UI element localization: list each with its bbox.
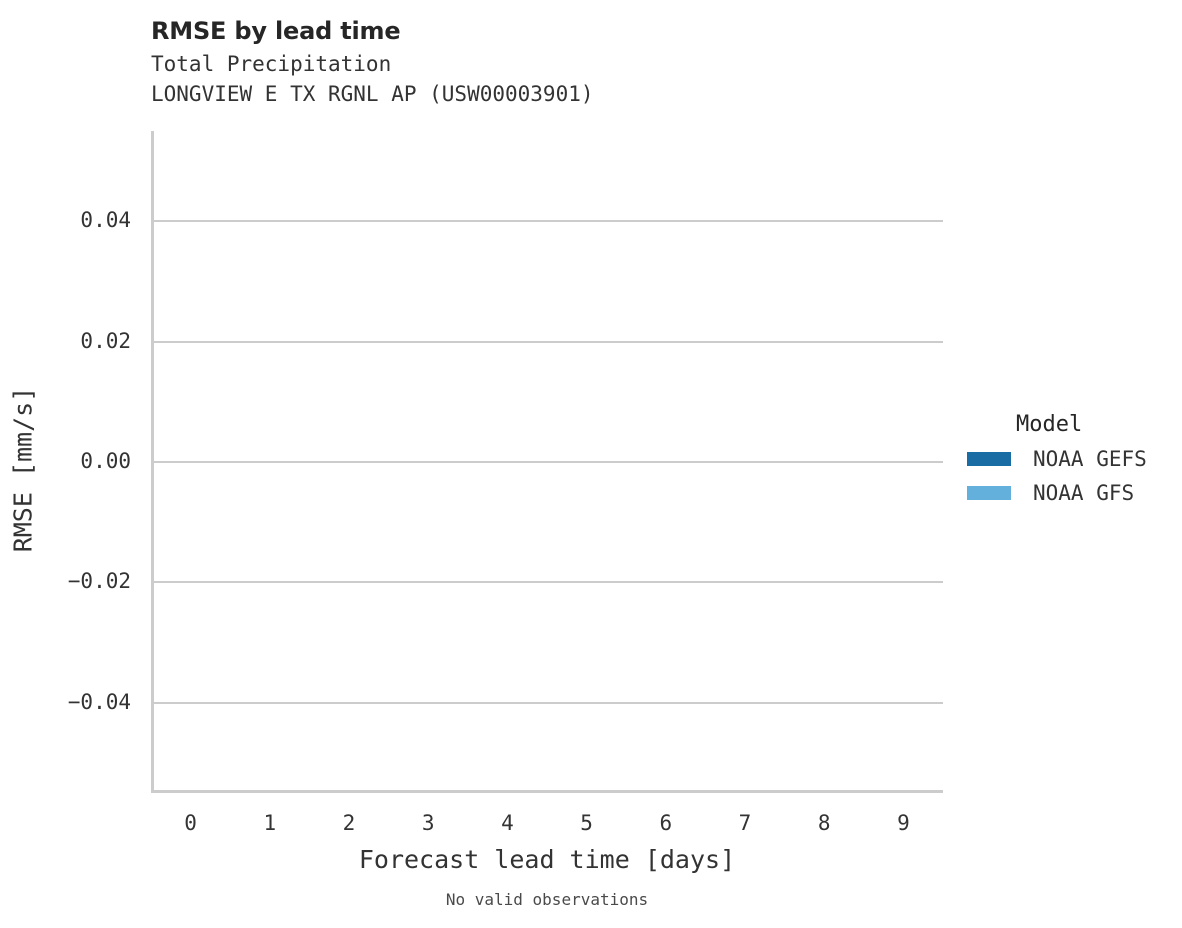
- x-axis-tick-label: 7: [715, 813, 775, 834]
- x-axis-tick-label: 2: [319, 813, 379, 834]
- legend-swatch-icon: [967, 452, 1011, 466]
- y-axis-tick-label: −0.04: [68, 692, 131, 713]
- x-axis-tick-label: 9: [873, 813, 933, 834]
- x-axis-title: Forecast lead time [days]: [151, 845, 943, 874]
- chart-caption: No valid observations: [151, 890, 943, 909]
- legend-swatch-icon: [967, 486, 1011, 500]
- x-axis-tick-label: 6: [636, 813, 696, 834]
- chart-subtitle-variable: Total Precipitation: [151, 52, 391, 76]
- y-axis-tick-label: 0.02: [80, 331, 131, 352]
- gridline: [151, 581, 943, 583]
- x-axis-tick-label: 4: [477, 813, 537, 834]
- legend-item-label: NOAA GEFS: [1033, 446, 1147, 472]
- chart-subtitle-station: LONGVIEW E TX RGNL AP (USW00003901): [151, 82, 594, 106]
- x-axis-tick-label: 1: [240, 813, 300, 834]
- legend-item-label: NOAA GFS: [1033, 480, 1134, 506]
- gridline: [151, 341, 943, 343]
- x-axis-spine: [151, 790, 943, 793]
- x-axis-tick-label: 3: [398, 813, 458, 834]
- plot-area: [151, 131, 943, 793]
- x-axis-tick-label: 0: [161, 813, 221, 834]
- gridline: [151, 461, 943, 463]
- x-axis-tick-label: 8: [794, 813, 854, 834]
- y-axis-tick-label: 0.00: [80, 451, 131, 472]
- y-axis-tick-label: −0.02: [68, 571, 131, 592]
- y-axis-tick-label: 0.04: [80, 210, 131, 231]
- gridline: [151, 220, 943, 222]
- x-axis-tick-label: 5: [557, 813, 617, 834]
- gridline: [151, 702, 943, 704]
- chart-title: RMSE by lead time: [151, 17, 400, 45]
- legend-title: Model: [1016, 412, 1082, 437]
- y-axis-title: RMSE [mm/s]: [9, 370, 38, 570]
